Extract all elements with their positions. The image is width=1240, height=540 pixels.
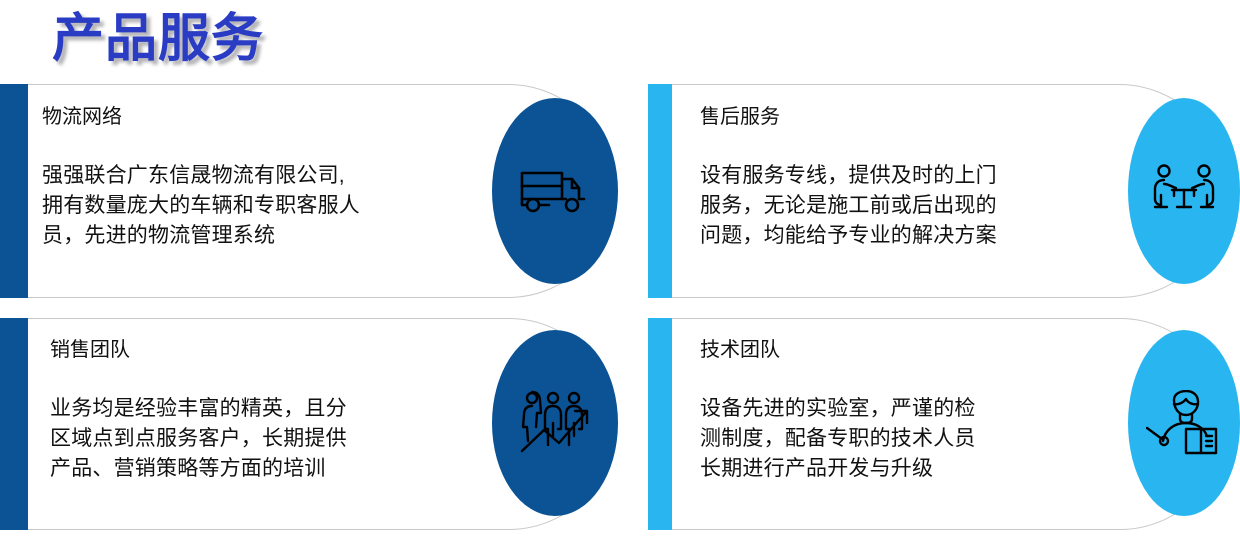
icon-bubble-sales-team (492, 330, 618, 516)
icon-bubble-after-sales-service (1128, 98, 1240, 284)
card-body-line: 强强联合广东信晟物流有限公司, (42, 161, 472, 191)
card-title-logistics-network: 物流网络 (42, 105, 472, 129)
card-body-line: 服务，无论是施工前或后出现的 (700, 191, 1120, 221)
icon-bubble-technical-team (1128, 330, 1240, 516)
page-title: 产品服务 (52, 13, 264, 65)
card-content-after-sales-service: 售后服务 设有服务专线，提供及时的上门 服务，无论是施工前或后出现的 问题，均能… (700, 105, 1120, 250)
card-title-sales-team: 销售团队 (50, 338, 480, 362)
card-content-logistics-network: 物流网络 强强联合广东信晟物流有限公司, 拥有数量庞大的车辆和专职客服人 员，先… (42, 105, 472, 250)
trainer-pointer-book-icon (1146, 390, 1222, 456)
icon-bubble-logistics-network (492, 98, 618, 284)
card-accent-bar-logistics-network (0, 84, 28, 298)
card-body-line: 区域点到点服务客户，长期提供 (50, 424, 480, 454)
card-body-line: 设有服务专线，提供及时的上门 (700, 161, 1120, 191)
card-accent-bar-technical-team (648, 318, 672, 530)
card-body-technical-team: 设备先进的实验室，严谨的检 测制度，配备专职的技术人员 长期进行产品开发与升级 (700, 394, 1120, 483)
slide-canvas: 产品服务 物流网络 强强联合广东信晟物流有限公司, 拥有数量庞大的车辆和专职客服… (0, 0, 1240, 540)
card-body-line: 问题，均能给予专业的解决方案 (700, 221, 1120, 251)
card-body-line: 长期进行产品开发与升级 (700, 454, 1120, 484)
card-title-technical-team: 技术团队 (700, 338, 1120, 362)
team-growth-chart-icon (517, 390, 593, 456)
card-accent-bar-sales-team (0, 318, 28, 530)
meeting-table-icon (1148, 162, 1220, 220)
card-body-line: 员，先进的物流管理系统 (42, 221, 472, 251)
card-body-sales-team: 业务均是经验丰富的精英，且分 区域点到点服务客户，长期提供 产品、营销策略等方面… (50, 394, 480, 483)
card-body-line: 产品、营销策略等方面的培训 (50, 454, 480, 484)
card-content-sales-team: 销售团队 业务均是经验丰富的精英，且分 区域点到点服务客户，长期提供 产品、营销… (50, 338, 480, 483)
card-title-after-sales-service: 售后服务 (700, 105, 1120, 129)
card-body-line: 拥有数量庞大的车辆和专职客服人 (42, 191, 472, 221)
card-body-line: 业务均是经验丰富的精英，且分 (50, 394, 480, 424)
card-body-logistics-network: 强强联合广东信晟物流有限公司, 拥有数量庞大的车辆和专职客服人 员，先进的物流管… (42, 161, 472, 250)
card-content-technical-team: 技术团队 设备先进的实验室，严谨的检 测制度，配备专职的技术人员 长期进行产品开… (700, 338, 1120, 483)
card-body-after-sales-service: 设有服务专线，提供及时的上门 服务，无论是施工前或后出现的 问题，均能给予专业的… (700, 161, 1120, 250)
card-body-line: 设备先进的实验室，严谨的检 (700, 394, 1120, 424)
delivery-truck-icon (519, 165, 591, 217)
card-accent-bar-after-sales-service (648, 84, 672, 298)
card-body-line: 测制度，配备专职的技术人员 (700, 424, 1120, 454)
